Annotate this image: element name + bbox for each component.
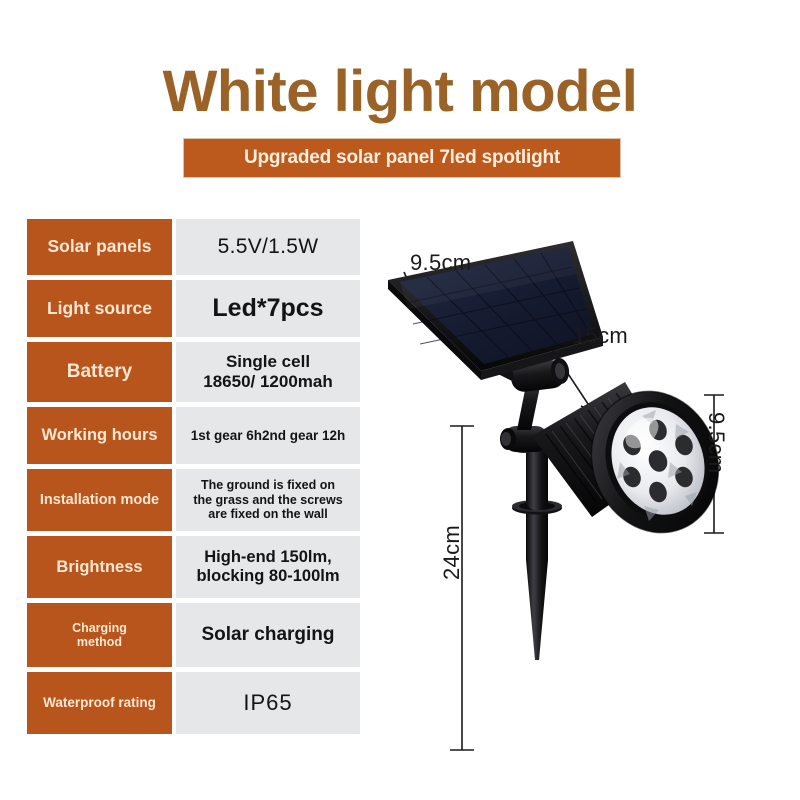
subtitle-text: Upgraded solar panel 7led spotlight: [244, 147, 560, 169]
subtitle-banner: Upgraded solar panel 7led spotlight: [184, 139, 620, 177]
spec-label-working-hours: Working hours: [27, 407, 172, 464]
spec-label-charging-method: Chargingmethod: [27, 603, 172, 667]
spec-label-solar-panels: Solar panels: [27, 219, 172, 275]
spec-value-installation-mode: The ground is fixed onthe grass and the …: [176, 469, 360, 531]
dimension-label-head-diameter: 9.5cm: [703, 412, 729, 473]
table-row: Battery Single cell18650/ 1200mah: [27, 342, 360, 402]
spec-value-waterproof-rating: IP65: [176, 672, 360, 734]
specification-table: Solar panels 5.5V/1.5W Light source Led*…: [27, 219, 360, 739]
spec-value-working-hours: 1st gear 6h2nd gear 12h: [176, 407, 360, 464]
spec-label-installation-mode: Installation mode: [27, 469, 172, 531]
spec-value-light-source: Led*7pcs: [176, 280, 360, 337]
spec-value-charging-method: Solar charging: [176, 603, 360, 667]
table-row: Waterproof rating IP65: [27, 672, 360, 734]
table-row: Installation mode The ground is fixed on…: [27, 469, 360, 531]
dimension-label-total-height: 24cm: [439, 525, 465, 580]
spec-sheet-page: White light model Upgraded solar panel 7…: [0, 0, 800, 800]
page-title: White light model: [0, 62, 800, 123]
ground-stake: [512, 442, 562, 660]
spec-label-light-source: Light source: [27, 280, 172, 337]
table-row: Solar panels 5.5V/1.5W: [27, 219, 360, 275]
spec-label-waterproof-rating: Waterproof rating: [27, 672, 172, 734]
product-photo-solar-spotlight: [380, 230, 800, 790]
table-row: Light source Led*7pcs: [27, 280, 360, 337]
dimension-label-panel-width: 9.5cm: [410, 250, 471, 276]
spec-value-brightness: High-end 150lm,blocking 80-100lm: [176, 536, 360, 598]
spec-label-brightness: Brightness: [27, 536, 172, 598]
spec-label-battery: Battery: [27, 342, 172, 402]
spotlight-assembly: [388, 241, 739, 660]
table-row: Working hours 1st gear 6h2nd gear 12h: [27, 407, 360, 464]
dimension-line-total-height: [450, 426, 474, 750]
table-row: Brightness High-end 150lm,blocking 80-10…: [27, 536, 360, 598]
spec-value-solar-panels: 5.5V/1.5W: [176, 219, 360, 275]
dimension-label-panel-length: 15cm: [573, 323, 628, 349]
table-row: Chargingmethod Solar charging: [27, 603, 360, 667]
spec-value-battery: Single cell18650/ 1200mah: [176, 342, 360, 402]
